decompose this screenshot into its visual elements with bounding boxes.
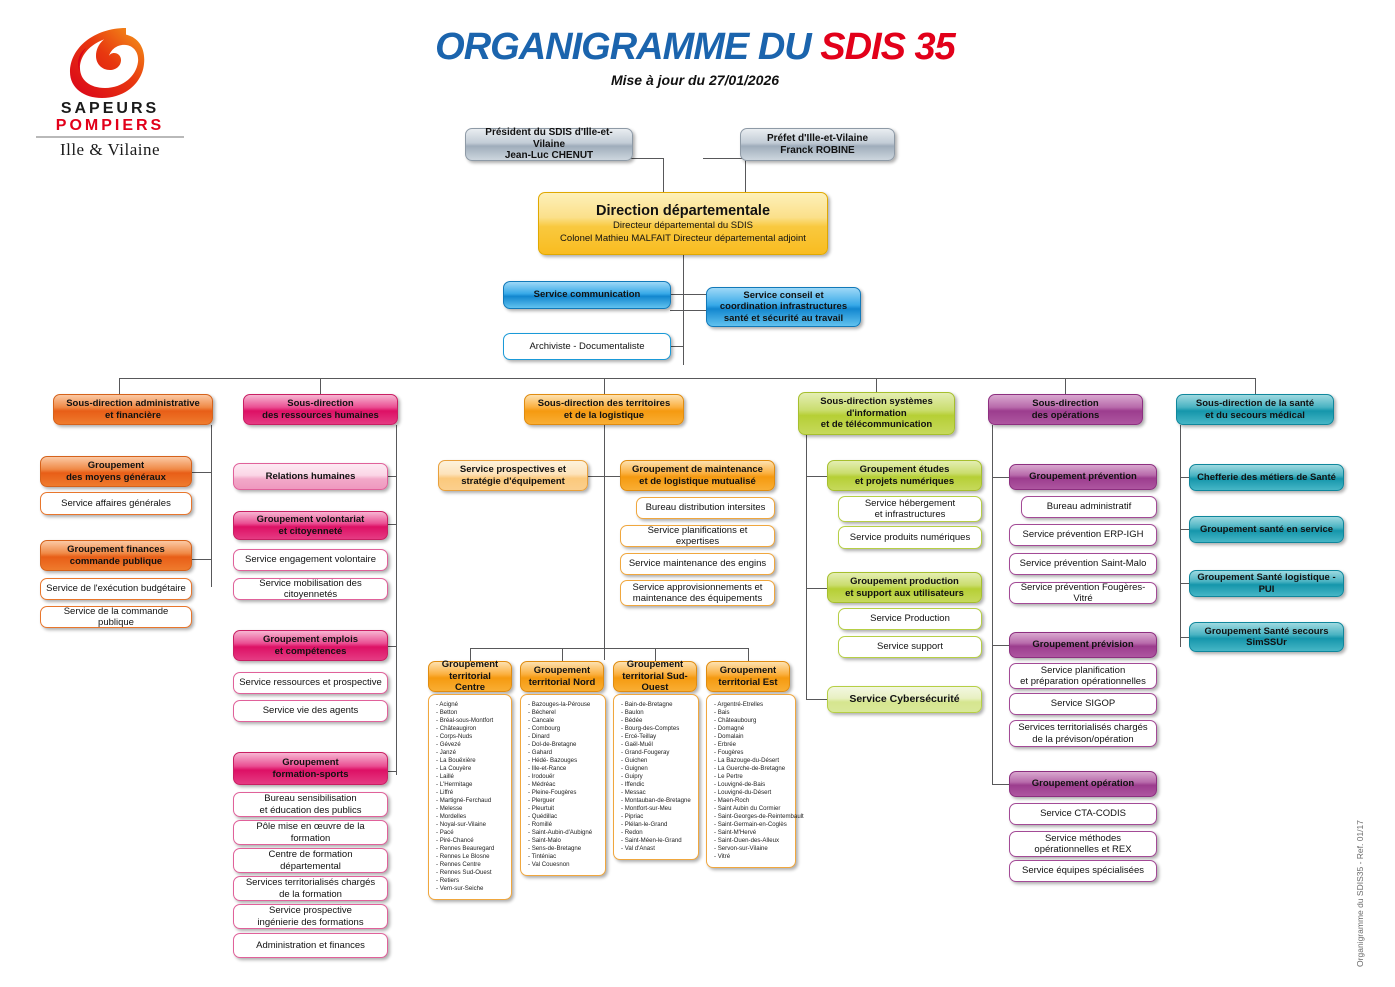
city-list-item: - Laillé — [436, 773, 506, 781]
box-service-produits-numeriques[interactable]: Service produits numériques — [838, 526, 982, 549]
sante-header-line1: Sous-direction de la santé — [1196, 398, 1314, 409]
admin-g2-line2: commande publique — [70, 556, 162, 567]
box-service-approvisionnements[interactable]: Service approvisionnements et maintenanc… — [620, 580, 775, 606]
city-list-item: - Martigné-Ferchaud — [436, 797, 506, 805]
box-service-prospective-ingenierie[interactable]: Service prospective ingénierie des forma… — [233, 904, 388, 929]
city-list-item: - La Guerche-de-Bretagne — [714, 765, 790, 773]
box-direction-departementale[interactable]: Direction départementale Directeur dépar… — [538, 192, 828, 255]
rh-g2-line1: Groupement emplois — [263, 634, 358, 645]
si-header-line3: et de télécommunication — [821, 419, 932, 430]
admin-header-line2: et financière — [105, 410, 161, 421]
city-list-item: - Cancale — [528, 717, 600, 725]
connector — [119, 378, 120, 394]
box-bureau-sensibilisation[interactable]: Bureau sensibilisation et éducation des … — [233, 792, 388, 817]
city-list-item: - Retiers — [436, 877, 506, 885]
prefet-label-line1: Préfet d'Ille-et-Vilaine — [767, 133, 868, 144]
box-service-prevention-saint-malo[interactable]: Service prévention Saint-Malo — [1009, 553, 1157, 575]
city-list-item: - Domalain — [714, 733, 790, 741]
city-list-item: - Saint-Méen-le-Grand — [621, 837, 693, 845]
city-list-item: - Val Couesnon — [528, 861, 600, 869]
box-pole-mise-en-oeuvre-formation[interactable]: Pôle mise en œuvre de la formation — [233, 820, 388, 845]
prospectives-line1: Service prospectives et — [460, 464, 566, 475]
maintenance-line2: et de logistique mutualisé — [639, 476, 756, 487]
connector — [806, 588, 828, 589]
box-sous-direction-territoires-logistique[interactable]: Sous-direction des territoireset de la l… — [524, 394, 684, 425]
box-service-prevention-fougeres-vitre[interactable]: Service prévention Fougères-Vitré — [1009, 582, 1157, 604]
rh-g1-line1: Groupement volontariat — [257, 514, 365, 525]
city-list-item: - Rennes Sud-Ouest — [436, 869, 506, 877]
city-list-item: - Saint-Germain-en-Coglès — [714, 821, 790, 829]
box-service-sigop[interactable]: Service SIGOP — [1009, 693, 1157, 715]
box-groupement-territorial-sud-ouest[interactable]: Groupementterritorial Sud-Ouest — [613, 661, 697, 692]
ops-header-line2: des opérations — [1032, 410, 1100, 421]
city-list-item: - Montauban-de-Bretagne — [621, 797, 693, 805]
box-service-commande-publique[interactable]: Service de la commande publique — [40, 606, 192, 628]
box-service-maintenance-engins[interactable]: Service maintenance des engins — [620, 553, 775, 575]
connector — [211, 425, 212, 587]
rh-g3-line2: formation-sports — [273, 769, 349, 780]
conseil-line3: santé et sécurité au travail — [724, 313, 843, 324]
city-list-item: - Domagné — [714, 725, 790, 733]
city-list-item: - Saint-M'Hervé — [714, 829, 790, 837]
connector — [192, 559, 212, 560]
box-service-communication[interactable]: Service communication — [503, 281, 671, 309]
box-groupement-operation[interactable]: Groupement opération — [1009, 771, 1157, 797]
city-list-item: - Corps-Nuds — [436, 733, 506, 741]
city-list-item: - Liffré — [436, 789, 506, 797]
rh-header-line1: Sous-direction — [287, 398, 354, 409]
box-groupement-etudes-projets-numeriques[interactable]: Groupement étudeset projets numériques — [827, 460, 982, 491]
box-service-support[interactable]: Service support — [838, 636, 982, 658]
city-list-item: - Rennes Beauregard — [436, 845, 506, 853]
city-list-item: - Bécherel — [528, 709, 600, 717]
city-list-item: - Saint-Georges-de-Reintembault — [714, 813, 790, 821]
city-list-item: - Bazouges-la-Pérouse — [528, 701, 600, 709]
gt-est-line1: Groupement — [720, 665, 776, 676]
box-sous-direction-operations[interactable]: Sous-directiondes opérations — [988, 394, 1143, 425]
city-list-item: - Maen-Roch — [714, 797, 790, 805]
direction-directeur: Directeur départemental du SDIS — [613, 220, 753, 232]
city-list-item: - Plerguer — [528, 797, 600, 805]
flame-icon — [64, 22, 156, 100]
rh-header-line2: des ressources humaines — [262, 410, 379, 421]
box-prefet[interactable]: Préfet d'Ille-et-VilaineFranck ROBINE — [740, 128, 895, 161]
city-list-item: - Noyal-sur-Vilaine — [436, 821, 506, 829]
box-groupement-territorial-est[interactable]: Groupementterritorial Est — [706, 661, 790, 692]
connector — [192, 472, 212, 473]
city-list-item: - Louvigné-du-Désert — [714, 789, 790, 797]
logo-text-sapeurs: SAPEURS — [30, 100, 190, 117]
connector — [1255, 378, 1256, 394]
city-list-item: - Betton — [436, 709, 506, 717]
city-list-item: - Pacé — [436, 829, 506, 837]
city-list-item: - Piré-Chancé — [436, 837, 506, 845]
city-list-item: - Châteaubourg — [714, 717, 790, 725]
city-list-item: - Pipriac — [621, 813, 693, 821]
city-list-item: - Baulon — [621, 709, 693, 717]
box-archiviste-documentaliste[interactable]: Archiviste - Documentaliste — [503, 333, 671, 360]
box-service-affaires-generales[interactable]: Service affaires générales — [40, 492, 192, 515]
connector — [670, 310, 708, 311]
box-service-prospectives-strategie[interactable]: Service prospectives etstratégie d'équip… — [438, 460, 588, 491]
city-list-item: - Le Pertre — [714, 773, 790, 781]
city-list-item: - Servon-sur-Vilaine — [714, 845, 790, 853]
box-centre-formation-departemental[interactable]: Centre de formation départemental — [233, 848, 388, 873]
si-g1-line2: et projets numériques — [855, 476, 954, 487]
city-list-item: - Saint-Malo — [528, 837, 600, 845]
page-title-block: ORGANIGRAMME DU SDIS 35 Mise à jour du 2… — [375, 26, 1015, 88]
city-list-item: - Irodouër — [528, 773, 600, 781]
box-service-mobilisation-citoyennetes[interactable]: Service mobilisation des citoyennetés — [233, 578, 388, 600]
city-list-item: - Combourg — [528, 725, 600, 733]
rh-g1-line2: et citoyenneté — [279, 526, 343, 537]
city-list-item: - Tinténiac — [528, 853, 600, 861]
sapeurs-pompiers-logo: SAPEURS POMPIERS Ille & Vilaine — [30, 22, 190, 152]
city-list-item: - Gévezé — [436, 741, 506, 749]
logo-divider — [36, 136, 184, 138]
admin-g1-line2: des moyens généraux — [66, 472, 166, 483]
city-list-item: - Pleurtuit — [528, 805, 600, 813]
admin-g1-line1: Groupement — [88, 460, 144, 471]
terr-header-line1: Sous-direction des territoires — [538, 398, 671, 409]
box-service-vie-agents[interactable]: Service vie des agents — [233, 700, 388, 722]
city-list-item: - Erbrée — [714, 741, 790, 749]
box-service-cta-codis[interactable]: Service CTA-CODIS — [1009, 803, 1157, 825]
city-list-est: - Argentré-Etrelles- Bais- Châteaubourg-… — [706, 694, 796, 868]
box-service-planifications-expertises[interactable]: Service planifications et expertises — [620, 525, 775, 547]
city-list-item: - Acigné — [436, 701, 506, 709]
si-header-line2: d'information — [846, 408, 906, 419]
box-chefferie-metiers-sante[interactable]: Chefferie des métiers de Santé — [1189, 464, 1344, 491]
connector — [703, 158, 746, 159]
city-list-item: - Bourg-des-Comptes — [621, 725, 693, 733]
connector — [663, 158, 664, 194]
box-president[interactable]: Président du SDIS d'Ille-et-VilaineJean-… — [465, 128, 633, 161]
city-list-item: - Gaël-Muël — [621, 741, 693, 749]
city-list-sud-ouest: - Bain-de-Bretagne- Baulon- Bédée- Bourg… — [613, 694, 699, 860]
prospectives-line2: stratégie d'équipement — [461, 476, 565, 487]
box-relations-humaines[interactable]: Relations humaines — [233, 463, 388, 490]
city-list-item: - Sens-de-Bretagne — [528, 845, 600, 853]
city-list-item: - Louvigné-de-Bais — [714, 781, 790, 789]
terr-header-line2: et de la logistique — [564, 410, 644, 421]
city-list-item: - Vitré — [714, 853, 790, 861]
city-list-item: - Argentré-Etrelles — [714, 701, 790, 709]
box-groupement-sante-secours-simssur[interactable]: Groupement Santé secoursSimSSUr — [1189, 622, 1344, 652]
city-list-item: - Ille-et-Rance — [528, 765, 600, 773]
city-list-item: - Châteaugiron — [436, 725, 506, 733]
city-list-item: - Grand-Fougeray — [621, 749, 693, 757]
box-service-cybersecurite[interactable]: Service Cybersécurité — [827, 686, 982, 713]
direction-adjoint: Colonel Mathieu MALFAIT Directeur départ… — [560, 233, 806, 245]
box-groupement-sante-en-service[interactable]: Groupement santé en service — [1189, 516, 1344, 543]
president-label-line1: Président du SDIS d'Ille-et-Vilaine — [485, 127, 612, 150]
box-service-execution-budgetaire[interactable]: Service de l'exécution budgétaire — [40, 578, 192, 600]
box-groupement-formation-sports[interactable]: Groupementformation-sports — [233, 752, 388, 785]
admin-g2-line1: Groupement finances — [67, 544, 165, 555]
direction-title: Direction départementale — [596, 206, 770, 218]
si-header-line1: Sous-direction systèmes — [820, 396, 932, 407]
city-list-item: - Dinard — [528, 733, 600, 741]
maintenance-line1: Groupement de maintenance — [632, 464, 763, 475]
box-sous-direction-systemes-information[interactable]: Sous-direction systèmesd'informationet d… — [798, 392, 955, 435]
logo-text-pompiers: POMPIERS — [30, 117, 190, 134]
city-list-item: - Saint Aubin du Cormier — [714, 805, 790, 813]
gt-nord-line1: Groupement — [534, 665, 590, 676]
box-groupement-territorial-nord[interactable]: Groupementterritorial Nord — [520, 661, 604, 692]
box-groupement-sante-logistique-pui[interactable]: Groupement Santé logistique - PUI — [1189, 570, 1344, 597]
city-list-item: - Guichen — [621, 757, 693, 765]
si-g2-line2: et support aux utilisateurs — [845, 588, 964, 599]
city-list-item: - Saint-Ouen-des-Alleux — [714, 837, 790, 845]
city-list-item: - Hédé- Bazouges — [528, 757, 600, 765]
connector — [992, 425, 993, 785]
connector — [588, 476, 623, 477]
city-list-item: - Plélan-le-Grand — [621, 821, 693, 829]
connector — [748, 648, 749, 662]
gt-est-line2: territorial Est — [718, 677, 777, 688]
city-list-item: - Guipry — [621, 773, 693, 781]
city-list-item: - Bain-de-Bretagne — [621, 701, 693, 709]
connector — [562, 648, 563, 662]
box-services-territorialises-formation[interactable]: Services territorialisés chargés de la f… — [233, 876, 388, 901]
city-list-item: - Guignen — [621, 765, 693, 773]
box-service-planification-preparation[interactable]: Service planification et préparation opé… — [1009, 663, 1157, 689]
city-list-item: - La Couyère — [436, 765, 506, 773]
city-list-item: - Romillé — [528, 821, 600, 829]
rh-g2-line2: et compétences — [275, 646, 347, 657]
conseil-line1: Service conseil et — [743, 290, 823, 301]
box-groupement-prevention[interactable]: Groupement prévention — [1009, 464, 1157, 490]
city-list-item: - Janzé — [436, 749, 506, 757]
conseil-line2: coordination infrastructures — [720, 301, 847, 312]
gt-centre-line2: territorial Centre — [449, 671, 491, 694]
box-groupement-territorial-centre[interactable]: Groupementterritorial Centre — [428, 661, 512, 692]
connector — [604, 378, 605, 394]
city-list-item: - Dol-de-Bretagne — [528, 741, 600, 749]
box-service-equipes-specialisees[interactable]: Service équipes spécialisées — [1009, 860, 1157, 882]
sante-i4-line1: Groupement Santé secours — [1204, 626, 1328, 637]
box-sous-direction-administrative[interactable]: Sous-direction administrativeet financiè… — [53, 394, 213, 425]
gt-so-line2: territorial Sud-Ouest — [622, 671, 687, 694]
ops-header-line1: Sous-direction — [1032, 398, 1099, 409]
box-groupement-emplois-competences[interactable]: Groupement emploiset compétences — [233, 630, 388, 661]
connector — [604, 425, 605, 660]
city-list-item: - Fougères — [714, 749, 790, 757]
box-groupement-prevision[interactable]: Groupement prévision — [1009, 632, 1157, 658]
city-list-item: - La Bazouge-du-Désert — [714, 757, 790, 765]
sante-i4-line2: SimSSUr — [1246, 637, 1287, 648]
city-list-item: - Bréal-sous-Montfort — [436, 717, 506, 725]
city-list-item: - Saint-Aubin-d'Aubigné — [528, 829, 600, 837]
gt-so-line1: Groupement — [627, 659, 683, 670]
city-list-item: - Ercé-Teillay — [621, 733, 693, 741]
city-list-item: - Melesse — [436, 805, 506, 813]
rh-g3-line1: Groupement — [282, 757, 338, 768]
city-list-centre: - Acigné- Betton- Bréal-sous-Montfort- C… — [428, 694, 512, 900]
box-sous-direction-sante-secours-medical[interactable]: Sous-direction de la santéet du secours … — [1176, 394, 1334, 425]
city-list-item: - Val d'Anast — [621, 845, 693, 853]
city-list-item: - Gahard — [528, 749, 600, 757]
box-service-conseil-coordination[interactable]: Service conseil etcoordination infrastru… — [706, 287, 861, 327]
organigramme-canvas: SAPEURS POMPIERS Ille & Vilaine ORGANIGR… — [0, 0, 1395, 987]
city-list-item: - La Bouëxière — [436, 757, 506, 765]
box-groupement-moyens-generaux[interactable]: Groupementdes moyens généraux — [40, 456, 192, 487]
connector — [670, 346, 684, 347]
connector — [806, 476, 828, 477]
box-sous-direction-ressources-humaines[interactable]: Sous-directiondes ressources humaines — [243, 394, 398, 425]
box-bureau-distribution-intersites[interactable]: Bureau distribution intersites — [636, 497, 775, 519]
connector — [745, 158, 746, 194]
city-list-item: - Redon — [621, 829, 693, 837]
city-list-item: - Rennes Le Blosne — [436, 853, 506, 861]
logo-text-ille-et-vilaine: Ille & Vilaine — [30, 140, 190, 160]
page-title: ORGANIGRAMME DU SDIS 35 — [375, 26, 1015, 69]
si-g2-line1: Groupement production — [850, 576, 959, 587]
president-label-line2: Jean-Luc CHENUT — [505, 150, 593, 161]
admin-header-line1: Sous-direction administrative — [66, 398, 200, 409]
box-groupement-volontariat-citoyennete[interactable]: Groupement volontariatet citoyenneté — [233, 511, 388, 540]
prefet-label-line2: Franck ROBINE — [780, 145, 854, 156]
connector-bus — [119, 378, 1255, 379]
city-list-item: - Vern-sur-Seiche — [436, 885, 506, 893]
box-service-hebergement-infrastructures[interactable]: Service hébergement et infrastructures — [838, 496, 982, 522]
city-list-item: - Pleine-Fougères — [528, 789, 600, 797]
sante-header-line2: et du secours médical — [1205, 410, 1305, 421]
city-list-item: - Mordelles — [436, 813, 506, 821]
city-list-item: - Quédillac — [528, 813, 600, 821]
gt-centre-line1: Groupement — [442, 659, 498, 670]
box-groupement-maintenance-logistique[interactable]: Groupement de maintenanceet de logistiqu… — [620, 460, 775, 491]
box-service-production[interactable]: Service Production — [838, 608, 982, 630]
box-service-engagement-volontaire[interactable]: Service engagement volontaire — [233, 549, 388, 571]
connector — [396, 425, 397, 775]
city-list-item: - Messac — [621, 789, 693, 797]
box-groupement-production-support[interactable]: Groupement productionet support aux util… — [827, 572, 982, 603]
box-service-methodes-operationnelles-rex[interactable]: Service méthodes opérationnelles et REX — [1009, 831, 1157, 857]
subtitle-update-date: Mise à jour du 27/01/2026 — [375, 72, 1015, 88]
box-service-prevention-erp-igh[interactable]: Service prévention ERP-IGH — [1009, 524, 1157, 546]
city-list-item: - Médréac — [528, 781, 600, 789]
footer-reference: Organigramme du SDIS35 - Ref. 01/17 — [1355, 820, 1365, 967]
box-service-ressources-prospective[interactable]: Service ressources et prospective — [233, 672, 388, 694]
connector — [1180, 425, 1181, 647]
connector — [806, 435, 807, 700]
title-red-part: SDIS 35 — [820, 26, 955, 68]
city-list-item: - L'Hermitage — [436, 781, 506, 789]
city-list-item: - Bédée — [621, 717, 693, 725]
si-g1-line1: Groupement études — [860, 464, 950, 475]
connector — [630, 158, 664, 159]
box-bureau-administratif[interactable]: Bureau administratif — [1021, 496, 1157, 518]
title-blue-part: ORGANIGRAMME DU — [435, 26, 820, 68]
box-groupement-finances-commande-publique[interactable]: Groupement financescommande publique — [40, 540, 192, 571]
city-list-item: - Bais — [714, 709, 790, 717]
gt-nord-line2: territorial Nord — [529, 677, 596, 688]
box-administration-finances[interactable]: Administration et finances — [233, 933, 388, 958]
city-list-item: - Iffendic — [621, 781, 693, 789]
city-list-nord: - Bazouges-la-Pérouse- Bécherel- Cancale… — [520, 694, 606, 876]
connector — [470, 648, 748, 649]
box-services-territorialises-prevision[interactable]: Services territorialisés chargés de la p… — [1009, 720, 1157, 747]
connector — [1065, 378, 1066, 394]
city-list-item: - Rennes Centre — [436, 861, 506, 869]
connector — [806, 699, 828, 700]
connector — [320, 378, 321, 394]
city-list-item: - Montfort-sur-Meu — [621, 805, 693, 813]
